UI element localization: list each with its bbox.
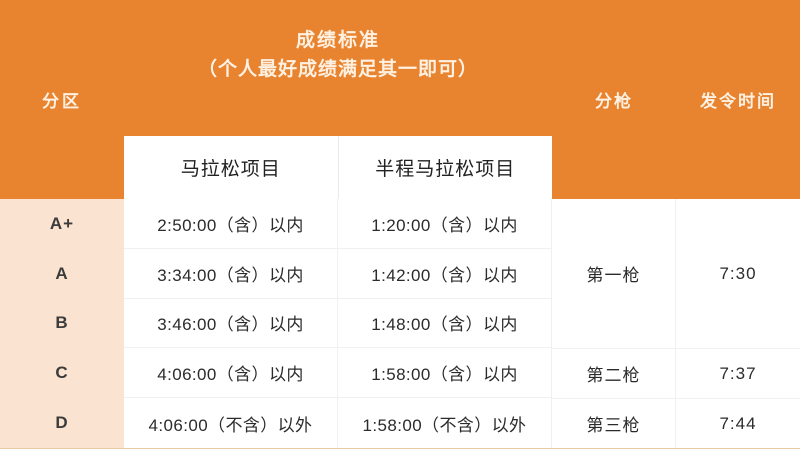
zone-value: B xyxy=(55,313,68,333)
subheader-cell-marathon: 马拉松项目 xyxy=(124,136,339,199)
header-cell-start-time: 发令时间 xyxy=(676,0,800,199)
half-marathon-standard-value: 1:48:00（含）以内 xyxy=(371,310,518,335)
gun-value: 第二枪 xyxy=(587,361,641,386)
header-label-standard-title: 成绩标准 xyxy=(124,26,552,55)
cell-marathon-standard: 4:06:00（不含）以外 xyxy=(124,398,338,448)
start-time-value: 7:37 xyxy=(719,364,756,384)
table-body: A+ A B C D 2:50:00（含）以内 1:20:00（含） xyxy=(0,199,800,448)
zone-cell: C xyxy=(0,348,124,398)
header-label-gun: 分枪 xyxy=(595,87,633,112)
header-label-zone: 分区 xyxy=(42,87,82,112)
half-marathon-standard-value: 1:58:00（不含）以外 xyxy=(363,411,527,436)
start-time-value: 7:44 xyxy=(719,414,756,434)
event-column-subheader: 马拉松项目 半程马拉松项目 xyxy=(124,136,552,199)
zone-cell: A xyxy=(0,249,124,299)
start-time-value: 7:30 xyxy=(719,264,756,284)
cell-gun-group: 第一枪 xyxy=(552,199,676,348)
cell-marathon-standard: 4:06:00（含）以内 xyxy=(124,348,338,397)
cell-start-time: 7:30 xyxy=(676,199,800,348)
marathon-standard-value: 3:34:00（含）以内 xyxy=(157,261,304,286)
table-bottom-rule xyxy=(0,448,800,455)
half-marathon-standard-value: 1:20:00（含）以内 xyxy=(371,211,518,236)
zone-value: C xyxy=(55,363,68,383)
data-columns: 2:50:00（含）以内 1:20:00（含）以内 3:34:00（含）以内 1… xyxy=(124,199,800,448)
cell-start-time: 7:44 xyxy=(676,398,800,448)
cell-marathon-standard: 2:50:00（含）以内 xyxy=(124,199,338,248)
cell-half-marathon-standard: 1:48:00（含）以内 xyxy=(338,299,552,348)
marathon-standard-value: 4:06:00（含）以内 xyxy=(157,360,304,385)
cell-half-marathon-standard: 1:20:00（含）以内 xyxy=(338,199,552,248)
header-label-standard-subtitle: （个人最好成绩满足其一即可） xyxy=(124,55,552,84)
marathon-standard-value: 3:46:00（含）以内 xyxy=(157,310,304,335)
cell-gun-group: 第二枪 xyxy=(552,348,676,398)
qualification-standards-table: 分区 成绩标准 （个人最好成绩满足其一即可） 分枪 发令时间 马拉松项目 半程马… xyxy=(0,0,800,455)
zone-value: A xyxy=(55,264,68,284)
half-marathon-standard-value: 1:42:00（含）以内 xyxy=(371,261,518,286)
gun-value: 第三枪 xyxy=(587,411,641,436)
zone-cell: B xyxy=(0,299,124,349)
subheader-label-half-marathon: 半程马拉松项目 xyxy=(375,154,515,181)
marathon-standard-value: 2:50:00（含）以内 xyxy=(157,211,304,236)
header-cell-zone: 分区 xyxy=(0,0,124,199)
marathon-standard-value: 4:06:00（不含）以外 xyxy=(149,411,313,436)
cell-marathon-standard: 3:34:00（含）以内 xyxy=(124,249,338,298)
cell-half-marathon-standard: 1:58:00（不含）以外 xyxy=(338,398,552,448)
zone-cell: A+ xyxy=(0,199,124,249)
half-marathon-standard-value: 1:58:00（含）以内 xyxy=(371,360,518,385)
zone-value: A+ xyxy=(50,214,74,234)
gun-group-layer: 第一枪 7:30 第二枪 7:37 第三枪 7:44 xyxy=(552,199,800,448)
header-cell-gun: 分枪 xyxy=(552,0,676,199)
cell-half-marathon-standard: 1:58:00（含）以内 xyxy=(338,348,552,397)
cell-gun-group: 第三枪 xyxy=(552,398,676,448)
header-cell-standard: 成绩标准 （个人最好成绩满足其一即可） xyxy=(124,26,552,85)
zone-value: D xyxy=(55,413,68,433)
cell-marathon-standard: 3:46:00（含）以内 xyxy=(124,299,338,348)
zone-cell: D xyxy=(0,398,124,448)
subheader-cell-half-marathon: 半程马拉松项目 xyxy=(339,136,553,199)
header-label-start-time: 发令时间 xyxy=(700,87,776,112)
subheader-label-marathon: 马拉松项目 xyxy=(181,154,281,181)
cell-start-time: 7:37 xyxy=(676,348,800,398)
gun-value: 第一枪 xyxy=(587,261,641,286)
zone-column: A+ A B C D xyxy=(0,199,124,448)
cell-half-marathon-standard: 1:42:00（含）以内 xyxy=(338,249,552,298)
